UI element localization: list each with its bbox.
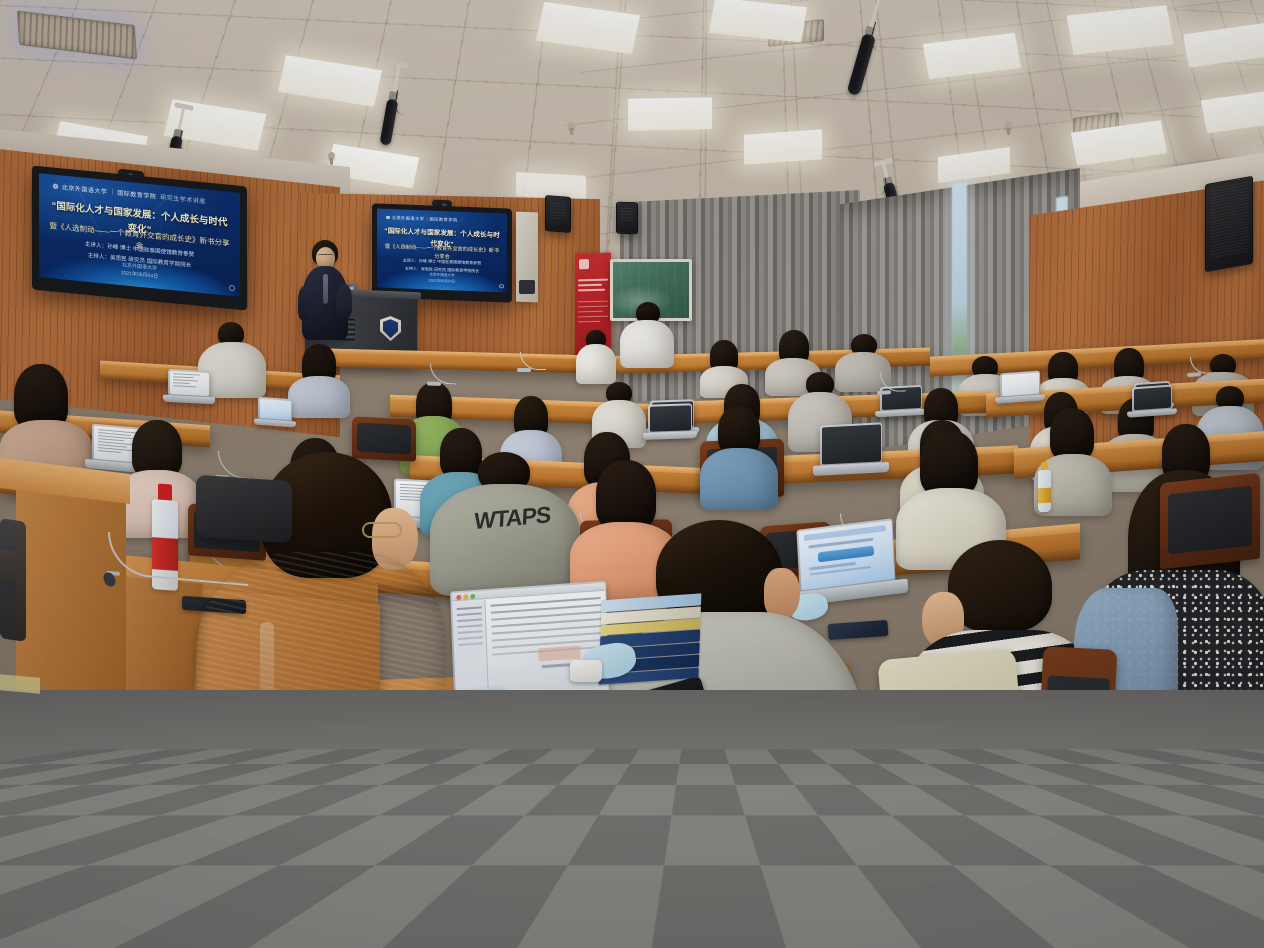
- sprinkler-icon: [1005, 122, 1012, 129]
- main-display-screen[interactable]: ✪ 北京外国语大学 | 国际教育学院 研究生学术讲座 “国际化人才与国家发展：个…: [32, 165, 247, 310]
- gooseneck-microphone: [430, 364, 456, 385]
- main-display-content: ✪ 北京外国语大学 | 国际教育学院 研究生学术讲座 “国际化人才与国家发展：个…: [39, 173, 240, 297]
- lanyard-icon: [323, 274, 328, 304]
- attendee: [620, 302, 674, 364]
- secondary-display-content: ✪ 北京外国语大学 | 国际教育学院 “国际化人才与国家发展：个人成长与时代变化…: [377, 209, 507, 293]
- earbuds-case: [570, 660, 602, 682]
- floor-marker: [0, 674, 40, 693]
- podium-crest-icon: [380, 316, 401, 342]
- gooseneck-microphone: [520, 352, 546, 370]
- laptop[interactable]: [258, 397, 292, 421]
- unit-name: 国际教育学院: [430, 216, 458, 223]
- sprinkler-icon: [328, 152, 335, 159]
- laptop[interactable]: [648, 403, 692, 433]
- logo-separator: |: [426, 216, 427, 221]
- carpet-floor: [0, 690, 1264, 948]
- rack-panel: [519, 280, 535, 294]
- ceiling-light-panel: [628, 97, 712, 130]
- attendee: [0, 364, 92, 464]
- university-crest-icon: ✪: [53, 184, 58, 190]
- equipment-case: [0, 518, 26, 642]
- laptop[interactable]: [820, 422, 882, 465]
- gooseneck-microphone: [880, 371, 906, 392]
- foreground-laptop[interactable]: [450, 581, 610, 704]
- carpet-tile-pattern: [0, 749, 1264, 948]
- university-name: 北京外国语大学: [392, 215, 425, 222]
- gooseneck-microphone: [1190, 355, 1216, 375]
- attendee: [576, 330, 616, 380]
- wall-speaker-icon: [616, 202, 638, 235]
- wall-speaker-icon: [545, 195, 571, 233]
- glasses-icon: [318, 254, 333, 258]
- presenter: [296, 240, 350, 358]
- laptop[interactable]: [168, 369, 210, 397]
- display-corner-badge: [229, 284, 235, 291]
- display-corner-badge: [499, 284, 504, 289]
- lecture-chair: [1160, 473, 1260, 570]
- handbag: [196, 475, 292, 544]
- university-crest-icon: ✪: [386, 216, 390, 220]
- water-bottle: [1038, 470, 1051, 513]
- secondary-display-screen[interactable]: ✪ 北京外国语大学 | 国际教育学院 “国际化人才与国家发展：个人成长与时代变化…: [372, 203, 512, 302]
- sprinkler-icon: [568, 122, 575, 129]
- attendee: [700, 340, 748, 386]
- wall-speaker-icon: [1205, 176, 1253, 272]
- lecture-hall-photo: ✪ 北京外国语大学 | 国际教育学院 研究生学术讲座 “国际化人才与国家发展：个…: [0, 0, 1264, 948]
- presenter-arm: [298, 286, 312, 320]
- attendee: [700, 406, 778, 498]
- logo-separator: |: [112, 189, 114, 195]
- glasses-icon: [362, 522, 402, 538]
- ceiling-light-panel: [744, 129, 822, 164]
- presenter-arm: [336, 284, 352, 318]
- attendee: [288, 344, 350, 406]
- laptop[interactable]: [1132, 385, 1172, 412]
